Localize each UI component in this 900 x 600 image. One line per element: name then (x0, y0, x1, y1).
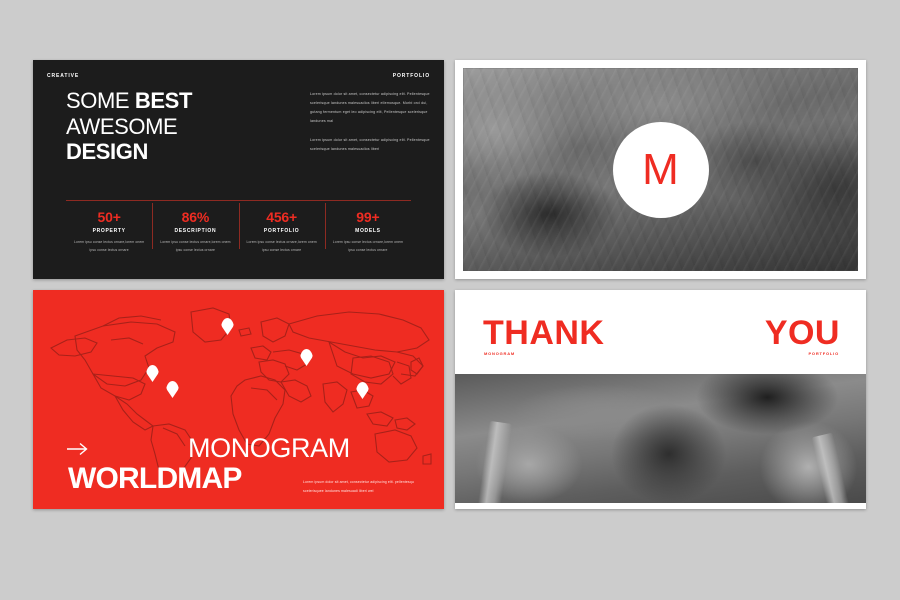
stat-value: 86% (158, 210, 232, 225)
thankyou-sub-right: PORTFOLIO (808, 351, 839, 356)
headline-word-design: DESIGN (66, 139, 192, 165)
worldmap-body-paragraph: Lorem ipsum dolor sit amet, consectetur … (303, 478, 429, 497)
worldmap-title-thin: MONOGRAM (188, 435, 350, 462)
monogram-letter: M (642, 148, 679, 192)
stat-label: PROPERTY (72, 228, 146, 234)
hero-body-column: Lorem ipsum dolor sit amet, consectetur … (310, 90, 435, 163)
stat-item: 99+ MODELS Lorem ipsu conse lectus ornar… (325, 201, 411, 255)
slide-hero[interactable]: CREATIVE PORTFOLIO SOME BEST AWESOME DES… (33, 60, 444, 279)
stat-description: Lorem ipsu conse lectus ornare,lorem one… (245, 239, 319, 255)
thankyou-word-thank: THANK (483, 316, 604, 350)
headline-word-best: BEST (135, 88, 192, 113)
worldmap-body-text: Lorem ipsum dolor sit amet, consectetur … (303, 478, 429, 497)
thankyou-photo-frame (455, 374, 866, 503)
monogram-circle: M (613, 122, 709, 218)
stat-value: 50+ (72, 210, 146, 225)
hero-kicker-right: PORTFOLIO (393, 73, 430, 79)
thankyou-sub-left: MONOGRAM (484, 351, 515, 356)
stat-label: MODELS (331, 228, 405, 234)
slide-monogram[interactable]: M (455, 60, 866, 279)
hero-stats-row: 50+ PROPERTY Lorem ipsu conse lectus orn… (66, 200, 411, 255)
stat-item: 456+ PORTFOLIO Lorem ipsu conse lectus o… (239, 201, 325, 255)
stat-value: 99+ (331, 210, 405, 225)
stat-item: 86% DESCRIPTION Lorem ipsu conse lectus … (152, 201, 238, 255)
arrow-right-icon (66, 442, 88, 456)
shoulders-photo (455, 374, 866, 503)
monogram-photo-frame: M (463, 68, 858, 271)
headline-word-awesome: AWESOME (66, 114, 192, 140)
hero-body-paragraph: Lorem ipsum dolor sit amet, consectetur … (310, 90, 435, 127)
stat-description: Lorem ipsu conse lectus ornare,lorem one… (72, 239, 146, 255)
hero-headline: SOME BEST AWESOME DESIGN (66, 88, 192, 165)
hero-kicker-left: CREATIVE (47, 73, 79, 79)
stat-description: Lorem ipsu conse lectus ornare,lorem one… (158, 239, 232, 255)
slide-worldmap[interactable]: MONOGRAM WORLDMAP Lorem ipsum dolor sit … (33, 290, 444, 509)
stat-value: 456+ (245, 210, 319, 225)
thankyou-band: THANK YOU MONOGRAM PORTFOLIO (455, 290, 866, 374)
stat-item: 50+ PROPERTY Lorem ipsu conse lectus orn… (66, 201, 152, 255)
thankyou-word-you: YOU (765, 316, 840, 350)
slide-deck: CREATIVE PORTFOLIO SOME BEST AWESOME DES… (33, 60, 866, 538)
slide-thankyou[interactable]: THANK YOU MONOGRAM PORTFOLIO (455, 290, 866, 509)
stat-label: DESCRIPTION (158, 228, 232, 234)
headline-word-some: SOME (66, 88, 135, 113)
worldmap-title-bold: WORLDMAP (68, 464, 242, 494)
stat-description: Lorem ipsu conse lectus ornare,lorem one… (331, 239, 405, 255)
hero-body-paragraph: Lorem ipsum dolor sit amet, consectetur … (310, 136, 435, 154)
stat-label: PORTFOLIO (245, 228, 319, 234)
